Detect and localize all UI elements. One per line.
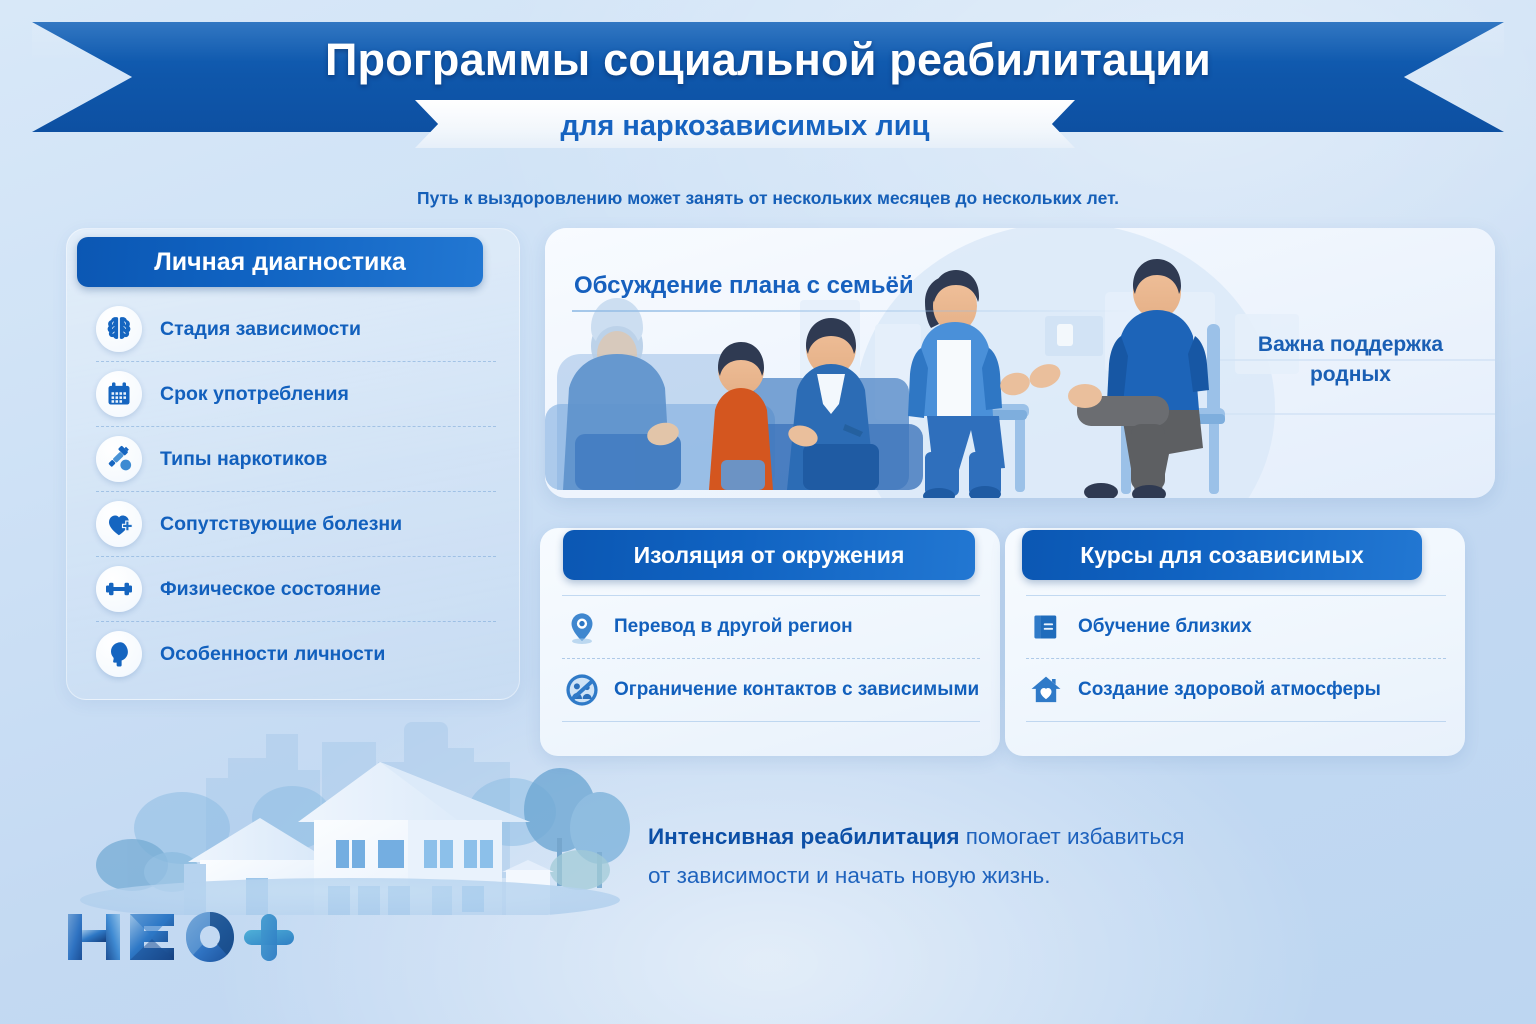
- list-item-label: Создание здоровой атмосферы: [1078, 679, 1381, 701]
- list-separator: [96, 491, 496, 492]
- footer-line-1: Интенсивная реабилитация помогает избави…: [648, 818, 1348, 857]
- page-title: Программы социальной реабилитации: [0, 34, 1536, 86]
- list-item[interactable]: Ограничение контактов с зависимыми: [562, 659, 980, 721]
- courses-list: Обучение близких Создание здоровой атмос…: [1026, 595, 1446, 722]
- list-separator: [562, 721, 980, 722]
- list-item[interactable]: Срок употребления: [96, 368, 496, 420]
- list-item[interactable]: Сопутствующие болезни: [96, 498, 496, 550]
- list-item[interactable]: Стадия зависимости: [96, 303, 496, 355]
- footer-strong: Интенсивная реабилитация: [648, 824, 960, 849]
- dumbbell-icon: [96, 566, 142, 612]
- infographic-canvas: Программы социальной реабилитации для на…: [0, 0, 1536, 1024]
- calendar-icon: [96, 371, 142, 417]
- diagnostics-list: Стадия зависимости: [96, 303, 496, 680]
- list-item[interactable]: Физическое состояние: [96, 563, 496, 615]
- isolation-list: Перевод в другой регион Ограничение конт: [562, 595, 980, 722]
- footer-rest: помогает избавиться: [960, 824, 1185, 849]
- courses-card-badge: Курсы для созависимых: [1022, 530, 1422, 580]
- footer-line-2: от зависимости и начать новую жизнь.: [648, 857, 1348, 896]
- list-item-label: Ограничение контактов с зависимыми: [614, 679, 979, 701]
- brain-icon: [96, 306, 142, 352]
- list-item-label: Обучение близких: [1078, 616, 1252, 638]
- list-item-label: Типы наркотиков: [160, 448, 327, 471]
- support-note: Важна поддержка родных: [1228, 330, 1473, 390]
- list-item-label: Срок употребления: [160, 383, 349, 406]
- illustration-card-title: Обсуждение плана с семьёй: [574, 272, 914, 300]
- lede-text: Путь к выздоровлению может занять от нес…: [0, 188, 1536, 209]
- list-separator: [96, 361, 496, 362]
- list-item[interactable]: Типы наркотиков: [96, 433, 496, 485]
- list-separator: [1026, 721, 1446, 722]
- head-profile-icon: [96, 631, 142, 677]
- list-item-label: Стадия зависимости: [160, 318, 361, 341]
- left-panel-badge: Личная диагностика: [77, 237, 483, 287]
- isolation-card-badge: Изоляция от окружения: [563, 530, 975, 580]
- syringe-icon: [96, 436, 142, 482]
- neo-plus-logo[interactable]: [62, 906, 312, 968]
- list-item-label: Физическое состояние: [160, 578, 381, 601]
- list-item[interactable]: Создание здоровой атмосферы: [1026, 659, 1446, 721]
- list-separator: [96, 556, 496, 557]
- illustration-title-underline: [572, 310, 1132, 312]
- list-item-label: Сопутствующие болезни: [160, 513, 402, 536]
- list-item-label: Особенности личности: [160, 643, 385, 666]
- list-item-label: Перевод в другой регион: [614, 616, 853, 638]
- list-separator: [96, 621, 496, 622]
- map-pin-icon: [562, 607, 602, 647]
- no-contacts-icon: [562, 670, 602, 710]
- heart-plus-icon: [96, 501, 142, 547]
- house-heart-icon: [1026, 670, 1066, 710]
- list-item[interactable]: Обучение близких: [1026, 596, 1446, 658]
- footer-statement: Интенсивная реабилитация помогает избави…: [648, 818, 1348, 895]
- list-item[interactable]: Перевод в другой регион: [562, 596, 980, 658]
- list-item[interactable]: Особенности личности: [96, 628, 496, 680]
- book-icon: [1026, 607, 1066, 647]
- list-separator: [96, 426, 496, 427]
- page-subtitle: для наркозависимых лиц: [415, 110, 1075, 143]
